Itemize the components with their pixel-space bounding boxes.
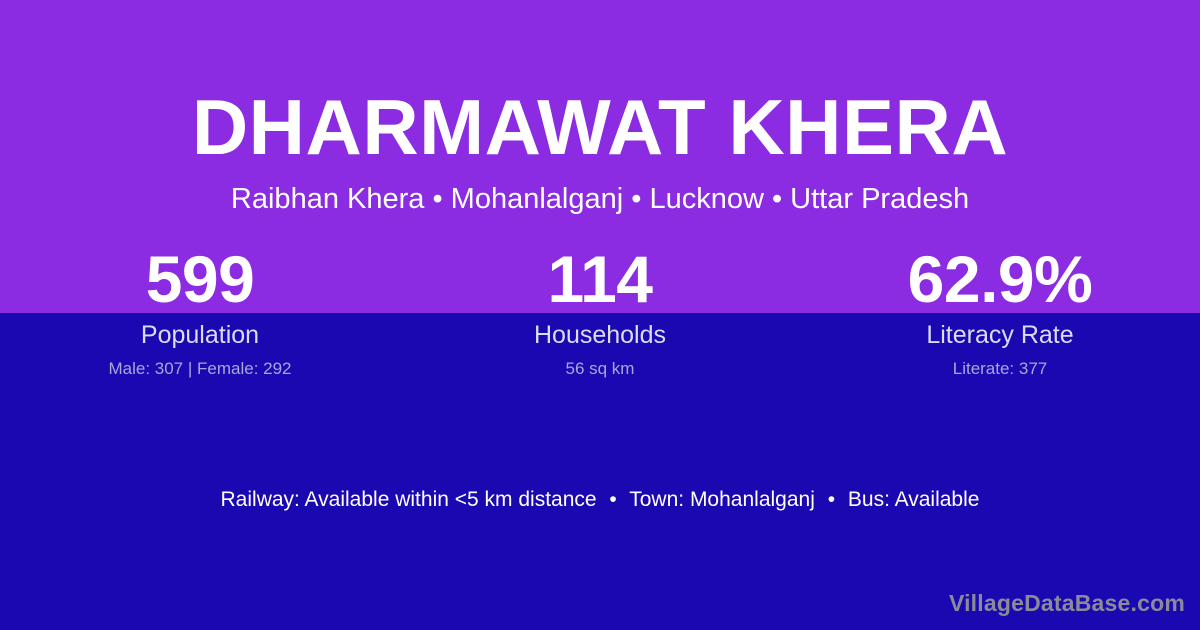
amenity-town: Town: Mohanlalganj — [629, 488, 815, 511]
village-info-card: DHARMAWAT KHERA Raibhan Khera • Mohanlal… — [0, 0, 1200, 630]
amenities-line: Railway: Available within <5 km distance… — [0, 486, 1200, 514]
stats-row: 599 Population Male: 307 | Female: 292 1… — [0, 246, 1200, 386]
population-label: Population — [0, 321, 400, 349]
amenity-railway: Railway: Available within <5 km distance — [221, 488, 597, 511]
households-value: 114 — [400, 246, 800, 312]
stat-block-literacy: 62.9% Literacy Rate Literate: 377 — [800, 246, 1200, 386]
households-label: Households — [400, 321, 800, 349]
literate-count: Literate: 377 — [800, 359, 1200, 379]
stat-block-households: 114 Households 56 sq km — [400, 246, 800, 386]
literacy-rate-value: 62.9% — [800, 246, 1200, 312]
population-value: 599 — [0, 246, 400, 312]
breadcrumb: Raibhan Khera • Mohanlalganj • Lucknow •… — [0, 181, 1200, 217]
population-breakdown: Male: 307 | Female: 292 — [0, 359, 400, 379]
stat-block-population: 599 Population Male: 307 | Female: 292 — [0, 246, 400, 386]
page-title: DHARMAWAT KHERA — [0, 80, 1200, 174]
village-area: 56 sq km — [400, 359, 800, 379]
amenity-separator-2: • — [821, 488, 842, 511]
amenity-separator-1: • — [602, 488, 623, 511]
amenity-bus: Bus: Available — [848, 488, 980, 511]
site-branding: VillageDataBase.com — [949, 589, 1185, 617]
literacy-rate-label: Literacy Rate — [800, 321, 1200, 349]
